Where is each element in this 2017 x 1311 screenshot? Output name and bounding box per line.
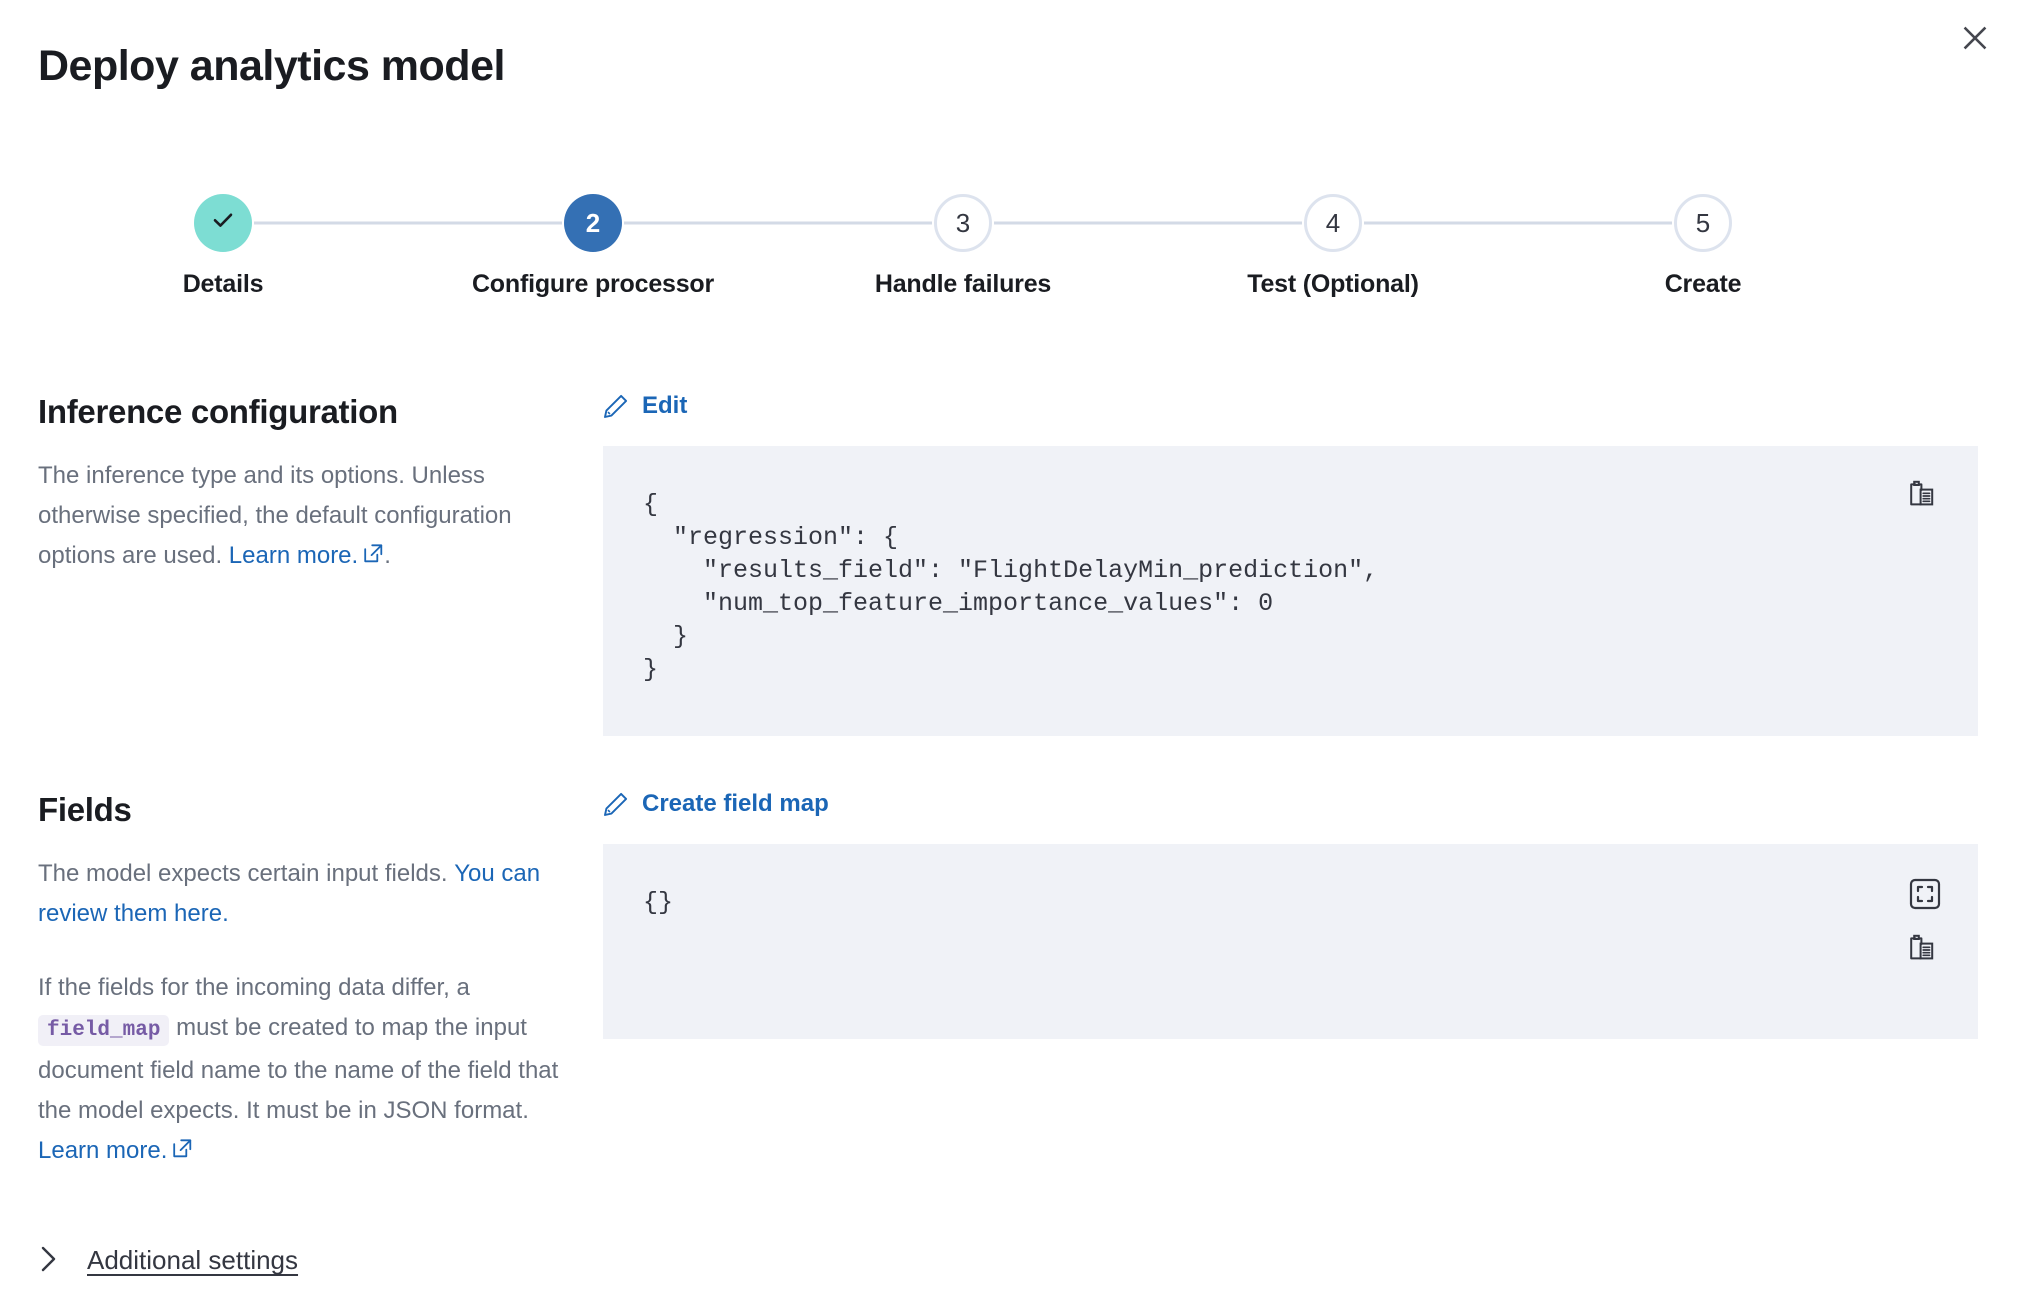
step-details[interactable]: Details xyxy=(38,192,408,299)
close-button[interactable] xyxy=(1953,16,1997,60)
copy-icon xyxy=(1908,934,1942,968)
step-label-2: Configure processor xyxy=(472,270,714,299)
chevron-right-icon xyxy=(38,1243,60,1278)
copy-field-map-button[interactable] xyxy=(1908,934,1942,968)
step-indicator-2: 2 xyxy=(564,194,622,252)
step-connector-left xyxy=(778,222,932,225)
step-circle-row: 5 xyxy=(1518,192,1888,254)
expand-icon xyxy=(1909,878,1941,910)
step-handle-failures[interactable]: 3 Handle failures xyxy=(778,192,1148,299)
step-label-3: Handle failures xyxy=(875,270,1051,299)
copy-inference-config-button[interactable] xyxy=(1908,480,1942,514)
fields-description-text: The model expects certain input fields. xyxy=(38,860,454,887)
field-map-code: {} xyxy=(603,844,1978,961)
field-map-code-actions xyxy=(1908,878,1942,968)
step-label-4: Test (Optional) xyxy=(1247,270,1419,299)
pencil-icon xyxy=(603,393,629,419)
step-connector-right xyxy=(1364,222,1518,225)
fields-title: Fields xyxy=(38,790,563,830)
inference-configuration-description: The inference type and its options. Unle… xyxy=(38,456,563,577)
inference-configuration-editor: Edit { "regression": { "results_field": … xyxy=(603,392,1978,736)
edit-inference-config-button[interactable]: Edit xyxy=(603,392,687,420)
step-create[interactable]: 5 Create xyxy=(1518,192,1888,299)
page-title: Deploy analytics model xyxy=(38,40,505,92)
step-circle-row: 2 xyxy=(408,192,778,254)
field-map-code-block[interactable]: {} xyxy=(603,844,1978,1039)
step-circle-row: 3 xyxy=(778,192,1148,254)
step-circle-row xyxy=(38,192,408,254)
field-map-text-before: If the fields for the incoming data diff… xyxy=(38,974,470,1001)
step-indicator-3: 3 xyxy=(934,194,992,252)
external-link-icon xyxy=(172,1132,193,1172)
inference-learn-more-link[interactable]: Learn more. xyxy=(229,542,384,569)
learn-more-label: Learn more. xyxy=(229,542,358,569)
fields-description-2: If the fields for the incoming data diff… xyxy=(38,968,563,1172)
step-connector-left xyxy=(1148,222,1302,225)
fields-text: Fields The model expects certain input f… xyxy=(38,790,603,1172)
expand-field-map-button[interactable] xyxy=(1909,878,1941,910)
fields-editor: Create field map {} xyxy=(603,790,1978,1172)
create-field-map-label: Create field map xyxy=(642,790,829,818)
inference-config-code-block[interactable]: { "regression": { "results_field": "Flig… xyxy=(603,446,1978,736)
step-connector-right xyxy=(624,222,778,225)
step-label-1: Details xyxy=(183,270,264,299)
inference-code-actions xyxy=(1908,480,1942,514)
step-test-optional[interactable]: 4 Test (Optional) xyxy=(1148,192,1518,299)
additional-settings-label: Additional settings xyxy=(87,1245,298,1276)
fields-learn-more-link[interactable]: Learn more. xyxy=(38,1137,193,1164)
fields-section: Fields The model expects certain input f… xyxy=(38,790,1978,1172)
inference-configuration-section: Inference configuration The inference ty… xyxy=(38,392,1978,736)
pencil-icon xyxy=(603,791,629,817)
step-indicator-5: 5 xyxy=(1674,194,1732,252)
step-circle-row: 4 xyxy=(1148,192,1518,254)
inference-configuration-text: Inference configuration The inference ty… xyxy=(38,392,603,736)
copy-icon xyxy=(1908,480,1942,514)
wizard-stepper: Details 2 Configure processor 3 Handle f… xyxy=(38,192,1888,299)
description-suffix: . xyxy=(384,542,391,569)
additional-settings-toggle[interactable]: Additional settings xyxy=(38,1243,298,1278)
create-field-map-button[interactable]: Create field map xyxy=(603,790,829,818)
step-label-5: Create xyxy=(1665,270,1742,299)
field-map-code-badge: field_map xyxy=(38,1015,169,1046)
fields-description-1: The model expects certain input fields. … xyxy=(38,854,563,934)
close-icon xyxy=(1961,24,1989,52)
step-indicator-4: 4 xyxy=(1304,194,1362,252)
inference-config-code: { "regression": { "results_field": "Flig… xyxy=(603,446,1978,728)
step-configure-processor[interactable]: 2 Configure processor xyxy=(408,192,778,299)
step-indicator-1 xyxy=(194,194,252,252)
step-connector-right xyxy=(254,222,408,225)
step-connector-right xyxy=(994,222,1148,225)
external-link-icon xyxy=(363,537,384,577)
step-connector-left xyxy=(408,222,562,225)
step-connector-left xyxy=(1518,222,1672,225)
inference-configuration-title: Inference configuration xyxy=(38,392,563,432)
check-icon xyxy=(208,205,238,242)
edit-label: Edit xyxy=(642,392,687,420)
learn-more-label: Learn more. xyxy=(38,1137,167,1164)
